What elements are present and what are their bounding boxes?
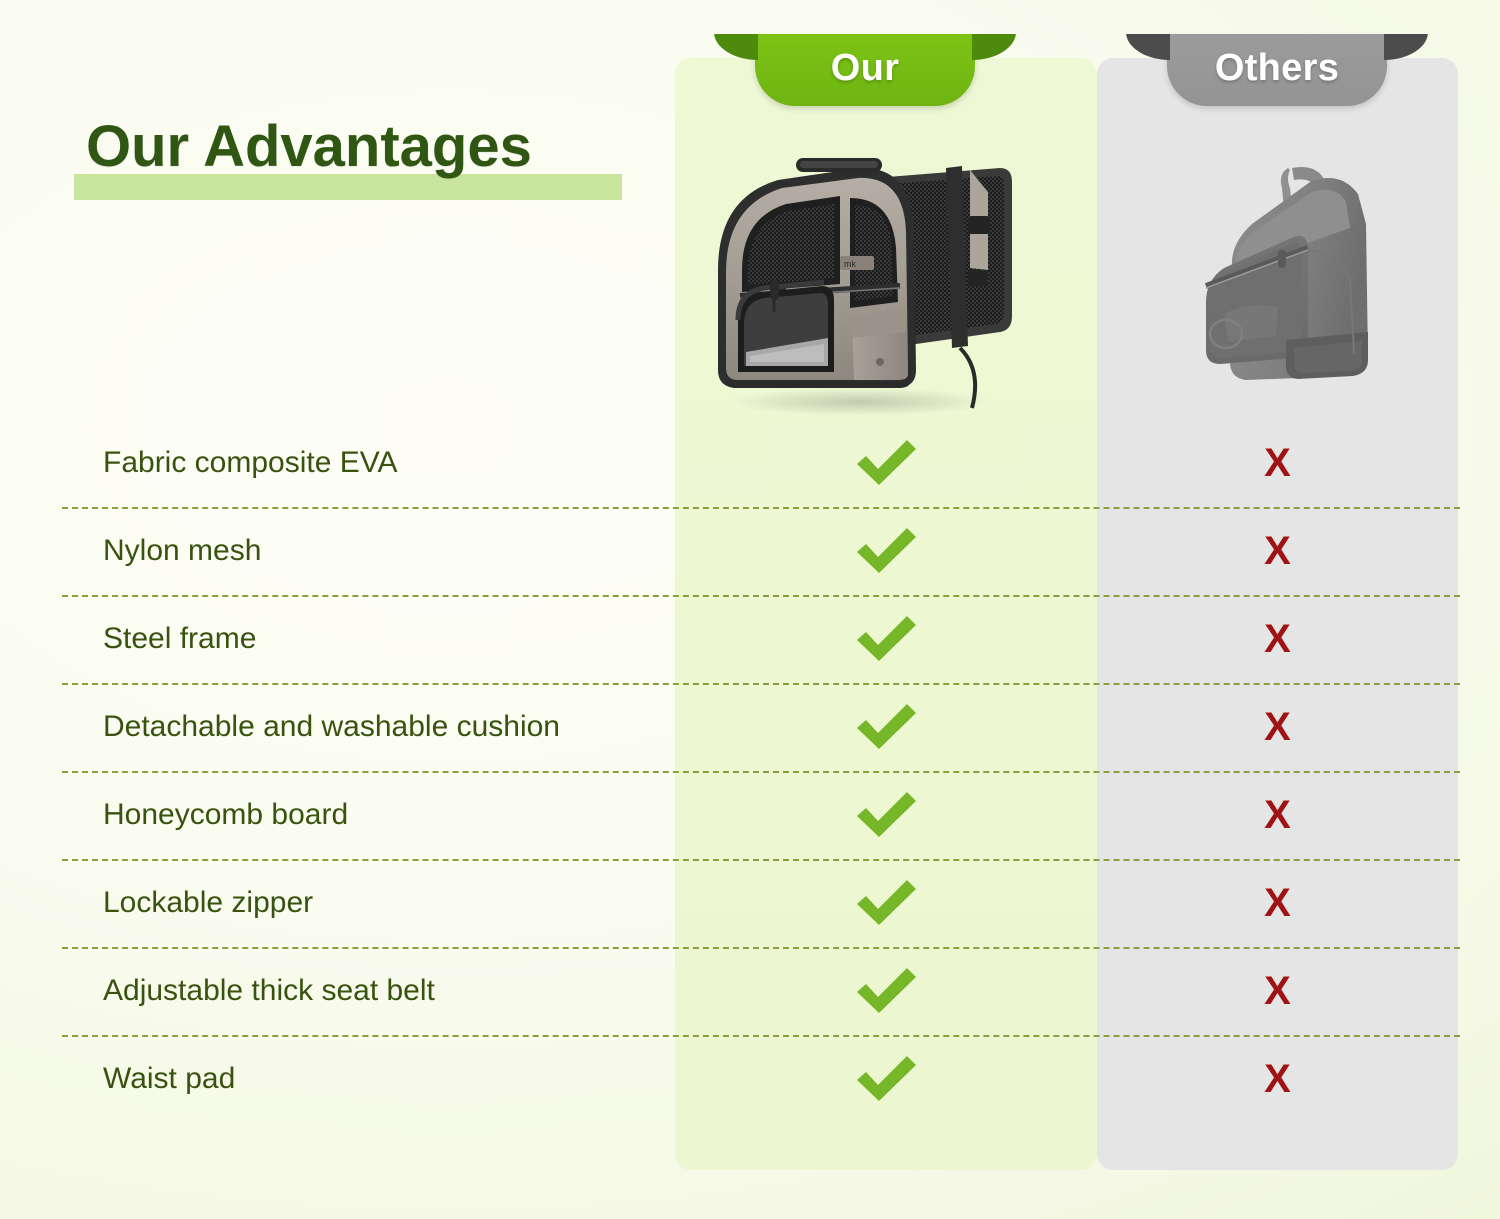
our-check-cell — [675, 437, 1097, 489]
others-x-cell: X — [1097, 619, 1458, 659]
our-check-cell — [675, 701, 1097, 753]
our-check-cell — [675, 525, 1097, 577]
our-banner-body: Our — [755, 34, 975, 106]
our-column-banner: Our — [755, 34, 975, 106]
check-icon — [851, 789, 921, 841]
page-title-wrap: Our Advantages — [86, 118, 532, 176]
check-icon — [851, 877, 921, 929]
our-product-image: mk — [700, 120, 1020, 420]
table-row: Adjustable thick seat belt X — [0, 947, 1500, 1035]
feature-label: Lockable zipper — [103, 886, 313, 920]
x-icon: X — [1264, 531, 1291, 571]
others-x-cell: X — [1097, 443, 1458, 483]
others-x-cell: X — [1097, 531, 1458, 571]
x-icon: X — [1264, 971, 1291, 1011]
x-icon: X — [1264, 795, 1291, 835]
others-x-cell: X — [1097, 971, 1458, 1011]
feature-label: Detachable and washable cushion — [103, 710, 560, 744]
our-banner-left-ear — [714, 34, 758, 60]
table-row: Honeycomb board X — [0, 771, 1500, 859]
check-icon — [851, 525, 921, 577]
feature-label: Fabric composite EVA — [103, 446, 398, 480]
others-x-cell: X — [1097, 1059, 1458, 1099]
comparison-page: Our Others Our Advantages — [0, 0, 1500, 1219]
x-icon: X — [1264, 1059, 1291, 1099]
others-column-banner: Others — [1167, 34, 1387, 106]
feature-label: Adjustable thick seat belt — [103, 974, 435, 1008]
check-icon — [851, 613, 921, 665]
x-icon: X — [1264, 707, 1291, 747]
others-banner-body: Others — [1167, 34, 1387, 106]
our-banner-right-ear — [972, 34, 1016, 60]
x-icon: X — [1264, 443, 1291, 483]
x-icon: X — [1264, 619, 1291, 659]
table-row: Detachable and washable cushion X — [0, 683, 1500, 771]
others-banner-left-ear — [1126, 34, 1170, 60]
our-check-cell — [675, 613, 1097, 665]
feature-rows: Fabric composite EVA X Nylon mesh X Stee… — [0, 419, 1500, 1123]
pet-backpack-carrier-icon — [1190, 158, 1410, 403]
others-banner-right-ear — [1384, 34, 1428, 60]
table-row: Nylon mesh X — [0, 507, 1500, 595]
check-icon — [851, 701, 921, 753]
others-product-image — [1190, 158, 1410, 403]
others-banner-label: Others — [1215, 49, 1339, 91]
others-x-cell: X — [1097, 883, 1458, 923]
table-row: Fabric composite EVA X — [0, 419, 1500, 507]
our-check-cell — [675, 1053, 1097, 1105]
feature-label: Waist pad — [103, 1062, 235, 1096]
others-x-cell: X — [1097, 795, 1458, 835]
check-icon — [851, 1053, 921, 1105]
feature-label: Steel frame — [103, 622, 256, 656]
table-row: Steel frame X — [0, 595, 1500, 683]
x-icon: X — [1264, 883, 1291, 923]
table-row: Lockable zipper X — [0, 859, 1500, 947]
our-banner-label: Our — [831, 49, 899, 91]
svg-text:mk: mk — [844, 259, 856, 269]
our-check-cell — [675, 789, 1097, 841]
page-title: Our Advantages — [86, 118, 532, 176]
check-icon — [851, 437, 921, 489]
check-icon — [851, 965, 921, 1017]
our-check-cell — [675, 965, 1097, 1017]
feature-label: Nylon mesh — [103, 534, 261, 568]
table-row: Waist pad X — [0, 1035, 1500, 1123]
pet-carrier-bag-icon: mk — [700, 120, 1020, 420]
feature-label: Honeycomb board — [103, 798, 348, 832]
our-check-cell — [675, 877, 1097, 929]
others-x-cell: X — [1097, 707, 1458, 747]
